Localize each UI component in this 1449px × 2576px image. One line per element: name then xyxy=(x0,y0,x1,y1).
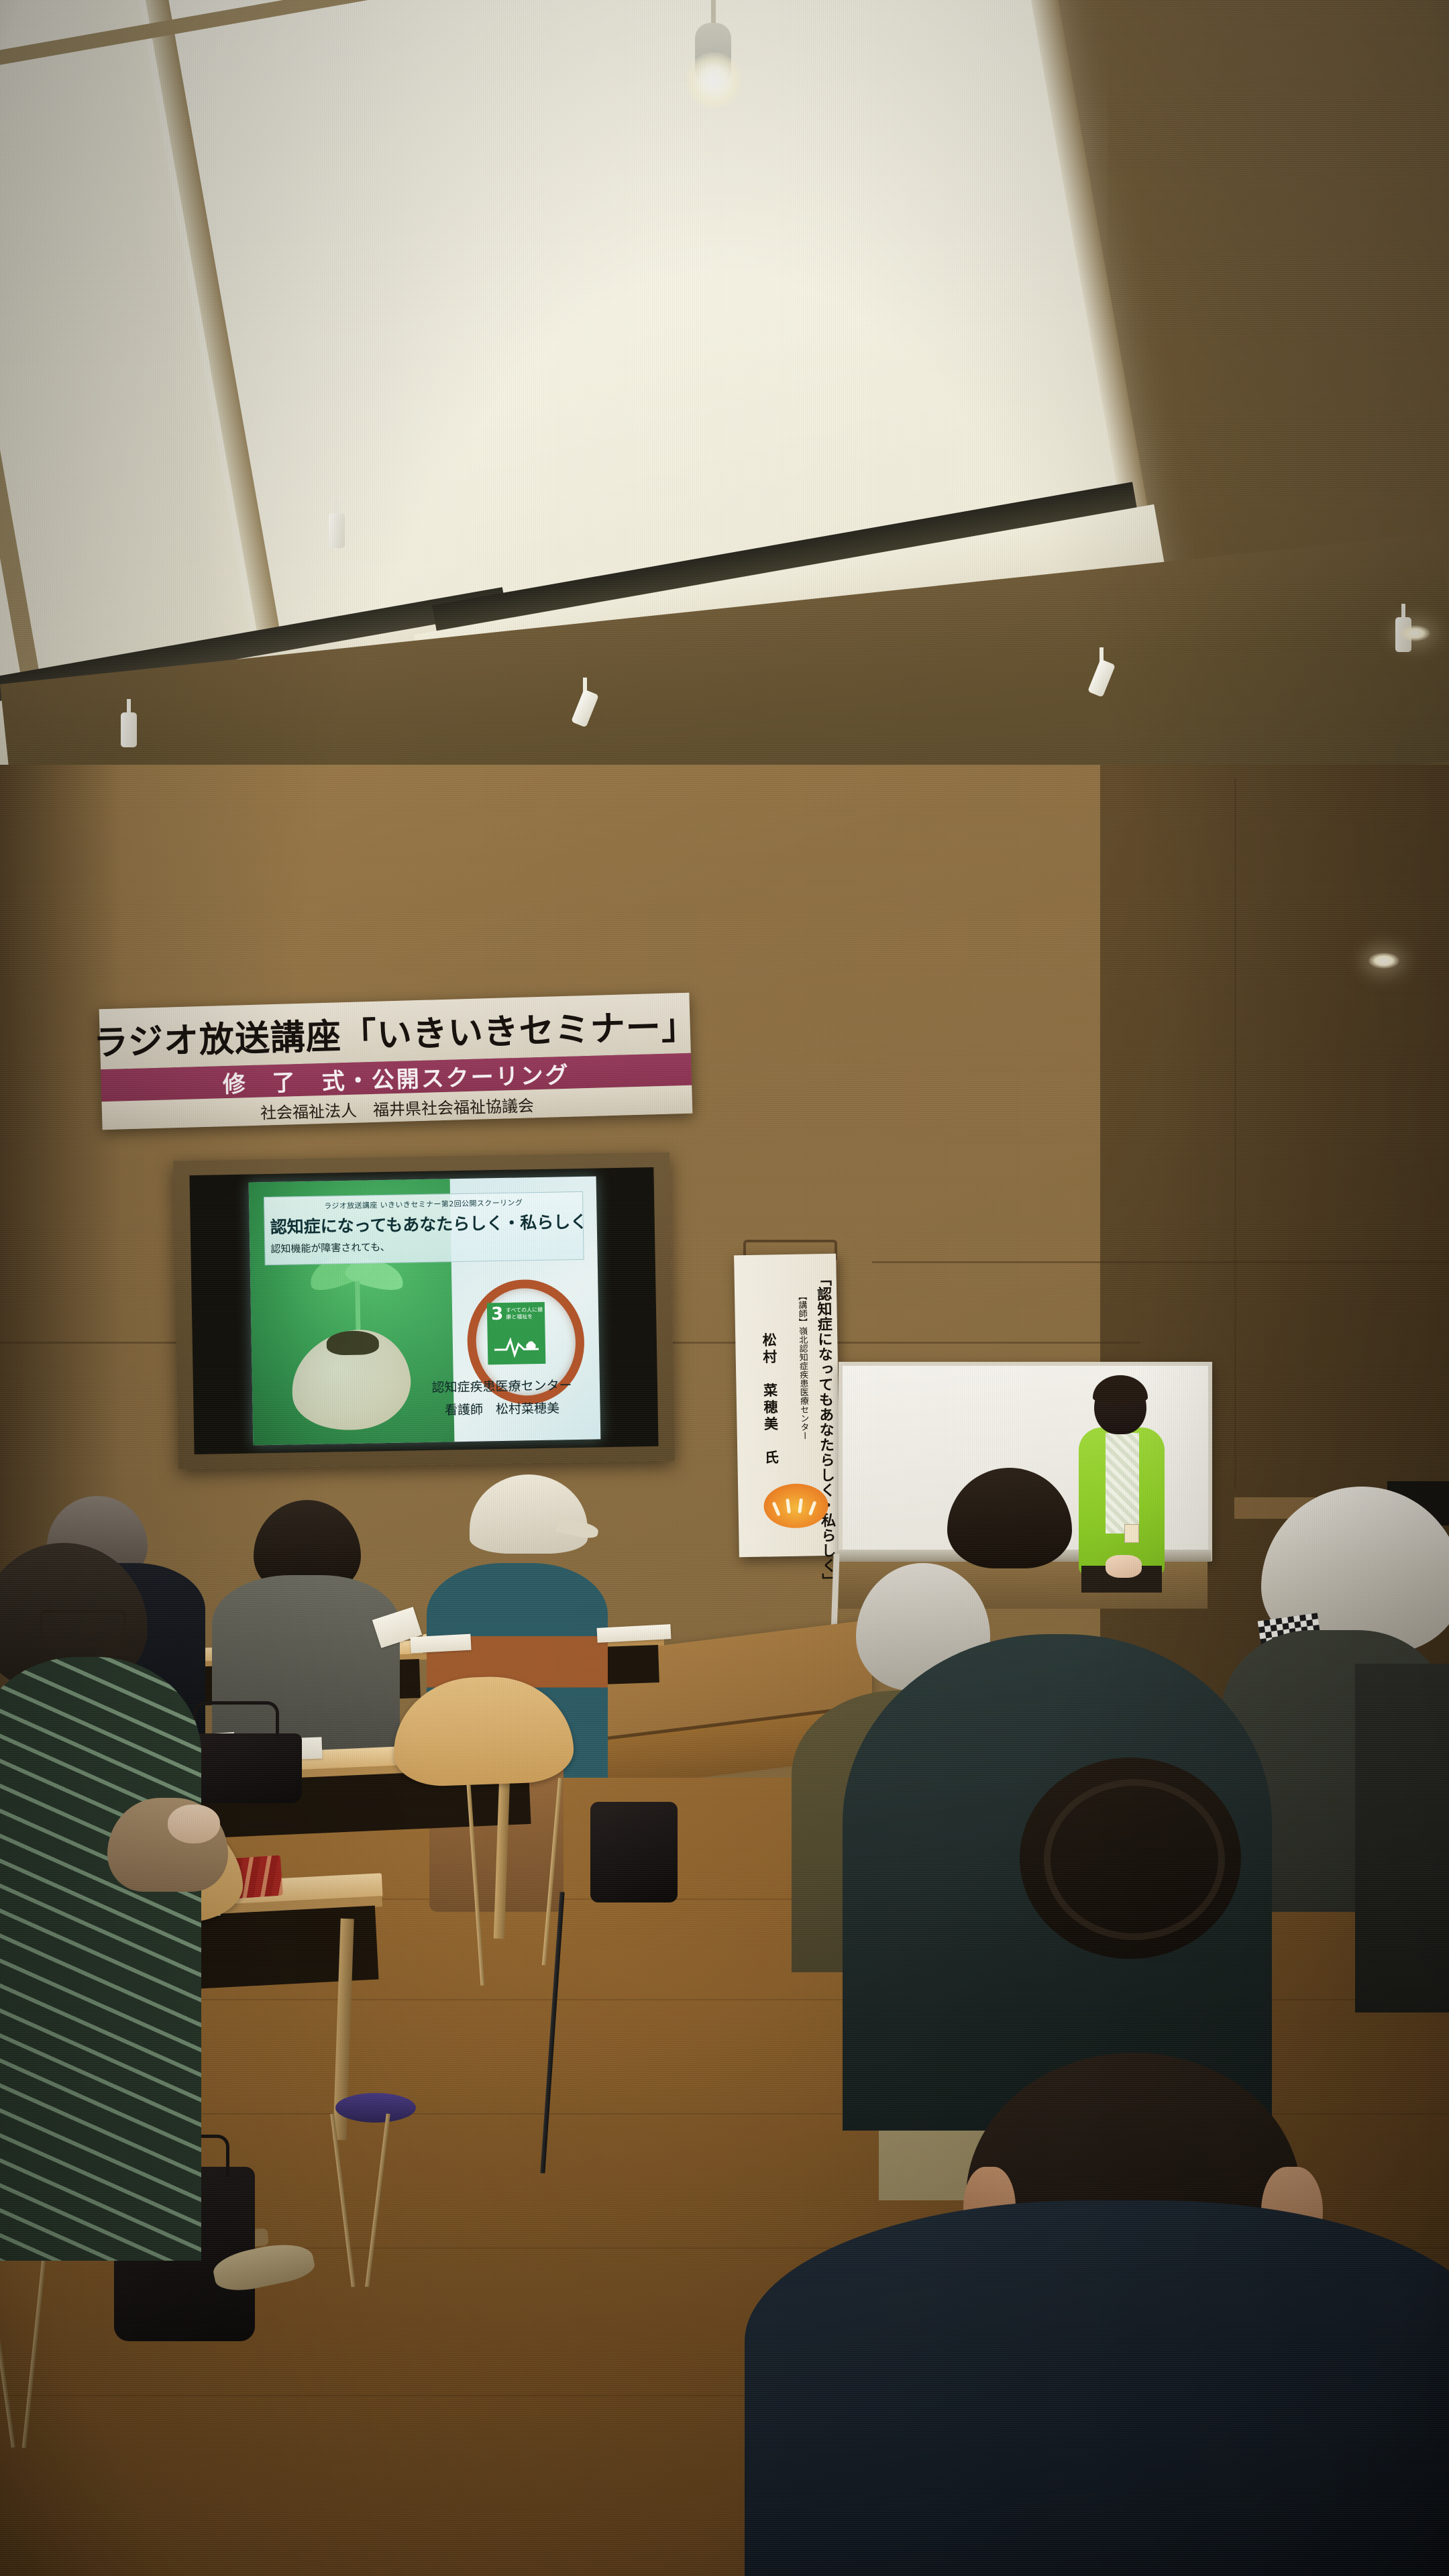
eyeglasses-icon xyxy=(40,1610,126,1645)
vertical-banner-name: 松村 菜穂美 氏 xyxy=(761,1332,777,1466)
photo-canvas: ラジオ放送講座「いきいきセミナー」 修 了 式・公開スクーリング 社会福祉法人 … xyxy=(0,0,1449,2576)
wall-banner: ラジオ放送講座「いきいきセミナー」 修 了 式・公開スクーリング 社会福祉法人 … xyxy=(99,993,693,1130)
speaker-blouse xyxy=(1106,1433,1139,1534)
heartbeat-icon xyxy=(493,1334,541,1358)
handout-paper-desk-1 xyxy=(410,1634,471,1654)
projection-screen-surface: ラジオ放送講座 いきいきセミナー第2回公開スクーリング 認知症になってもあなたら… xyxy=(189,1167,658,1454)
soil-shape xyxy=(327,1330,380,1355)
audience-body-far-right xyxy=(1355,1664,1449,2012)
stool-seat-2 xyxy=(335,2093,416,2123)
downlight-6 xyxy=(1399,625,1430,641)
wall-seam-vertical xyxy=(1234,778,1236,1489)
speaker-hands xyxy=(1106,1555,1142,1578)
slide-subtitle-text: 認知機能が障害されても、 xyxy=(270,1236,578,1256)
downlight-wall xyxy=(1368,953,1399,969)
sdg-label-text: すべての人に健康と福祉を xyxy=(506,1307,545,1321)
backpack-on-floor-back xyxy=(590,1802,678,1902)
audience-green-patterned-top xyxy=(0,1657,201,2261)
banner-line-3-text: 社会福祉法人 福井県社会福祉協議会 xyxy=(260,1092,535,1123)
vertical-banner-org: 【講師】嶺北認知症疾患医療センター xyxy=(797,1292,808,1440)
slide-title-text: 認知症になってもあなたらしく・私らしく xyxy=(270,1209,578,1238)
foreground-navy-jacket xyxy=(745,2200,1449,2576)
hair-ornament-icon xyxy=(1044,1779,1225,1940)
projection-screen-frame: ラジオ放送講座 いきいきセミナー第2回公開スクーリング 認知症になってもあなたら… xyxy=(173,1152,675,1470)
slide-presenter-text: 看護師 松村菜穂美 xyxy=(411,1398,593,1419)
tote-bag-handle xyxy=(193,1701,279,1739)
ceiling xyxy=(0,0,1449,792)
hand-shape xyxy=(285,1324,416,1438)
slide-title-box: ラジオ放送講座 いきいきセミナー第2回公開スクーリング 認知症になってもあなたら… xyxy=(264,1191,584,1265)
presentation-slide: ラジオ放送講座 いきいきセミナー第2回公開スクーリング 認知症になってもあなたら… xyxy=(249,1176,601,1445)
audience-hand xyxy=(168,1805,220,1843)
sdg-number-text: 3 xyxy=(491,1305,504,1323)
vertical-banner: 「認知症になってもあなたらしく・私らしく」 【講師】嶺北認知症疾患医療センター … xyxy=(734,1254,841,1558)
sdg-goal-badge: 3 すべての人に健康と福祉を xyxy=(487,1302,546,1364)
speaker-name-badge xyxy=(1124,1524,1139,1543)
vertical-banner-title: 「認知症になってもあなたらしく・私らしく」 xyxy=(815,1271,835,1589)
banner-line-1-text: ラジオ放送講座「いきいきセミナー」 xyxy=(93,998,698,1065)
stem-shape xyxy=(355,1281,361,1342)
wall-seam-2 xyxy=(872,1261,1449,1263)
slide-organization-text: 認知症疾患医療センター xyxy=(411,1375,593,1397)
pendant-bulb-glow-icon xyxy=(686,52,742,109)
